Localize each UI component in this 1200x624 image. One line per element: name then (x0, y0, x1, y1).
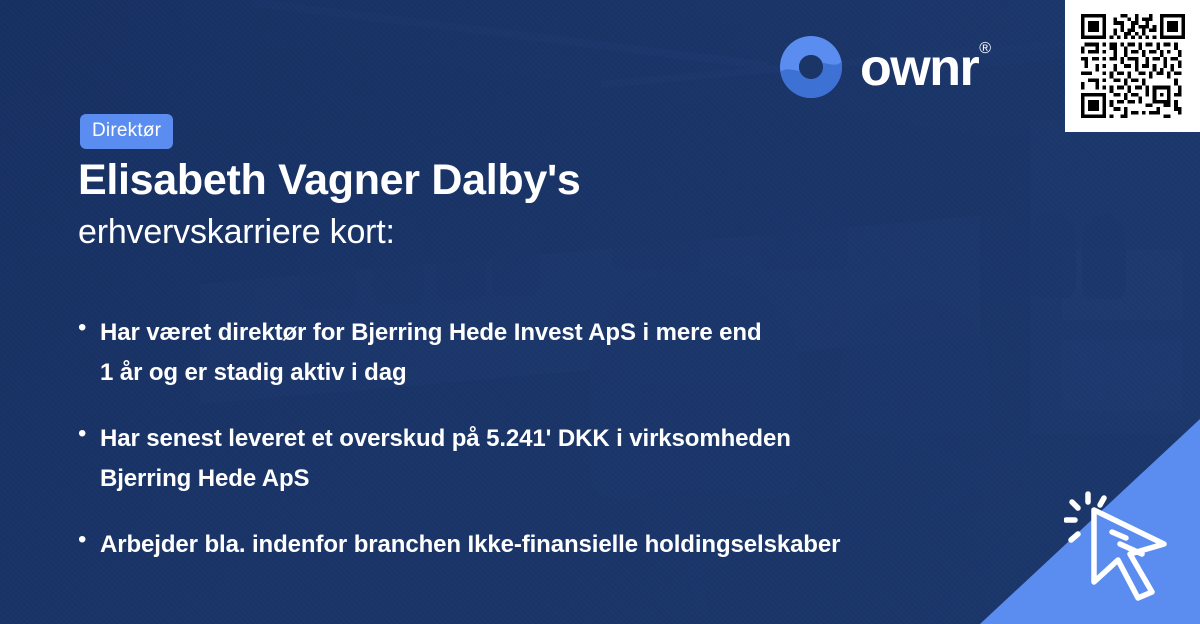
page-subtitle: erhvervskarriere kort: (78, 213, 395, 252)
qr-code[interactable] (1065, 0, 1200, 132)
bullet-dot-icon: • (78, 313, 100, 343)
registered-trademark-icon: ® (979, 40, 991, 57)
bullet-dot-icon: • (78, 419, 100, 449)
ownr-logo: ownr® (778, 34, 990, 100)
ownr-wordmark: ownr® (860, 42, 990, 94)
click-corner-decoration (980, 419, 1200, 624)
list-item: • Har senest leveret et overskud på 5.24… (78, 419, 1008, 499)
role-badge: Direktør (80, 114, 173, 149)
qr-code-icon (1081, 14, 1185, 118)
list-item-text: Har været direktør for Bjerring Hede Inv… (100, 313, 762, 393)
list-item: • Har været direktør for Bjerring Hede I… (78, 313, 1008, 393)
list-item-text: Har senest leveret et overskud på 5.241'… (100, 419, 791, 499)
ownr-wordmark-text: ownr (860, 39, 978, 97)
click-cursor-icon (1064, 488, 1184, 606)
list-item-text: Arbejder bla. indenfor branchen Ikke-fin… (100, 525, 840, 565)
ownr-circle-swoosh-logo-icon (778, 34, 844, 100)
company-profile-card: ownr® (0, 0, 1200, 624)
career-highlights-list: • Har været direktør for Bjerring Hede I… (78, 313, 1008, 591)
page-title: Elisabeth Vagner Dalby's (78, 156, 581, 205)
bullet-dot-icon: • (78, 525, 100, 555)
list-item: • Arbejder bla. indenfor branchen Ikke-f… (78, 525, 1008, 565)
